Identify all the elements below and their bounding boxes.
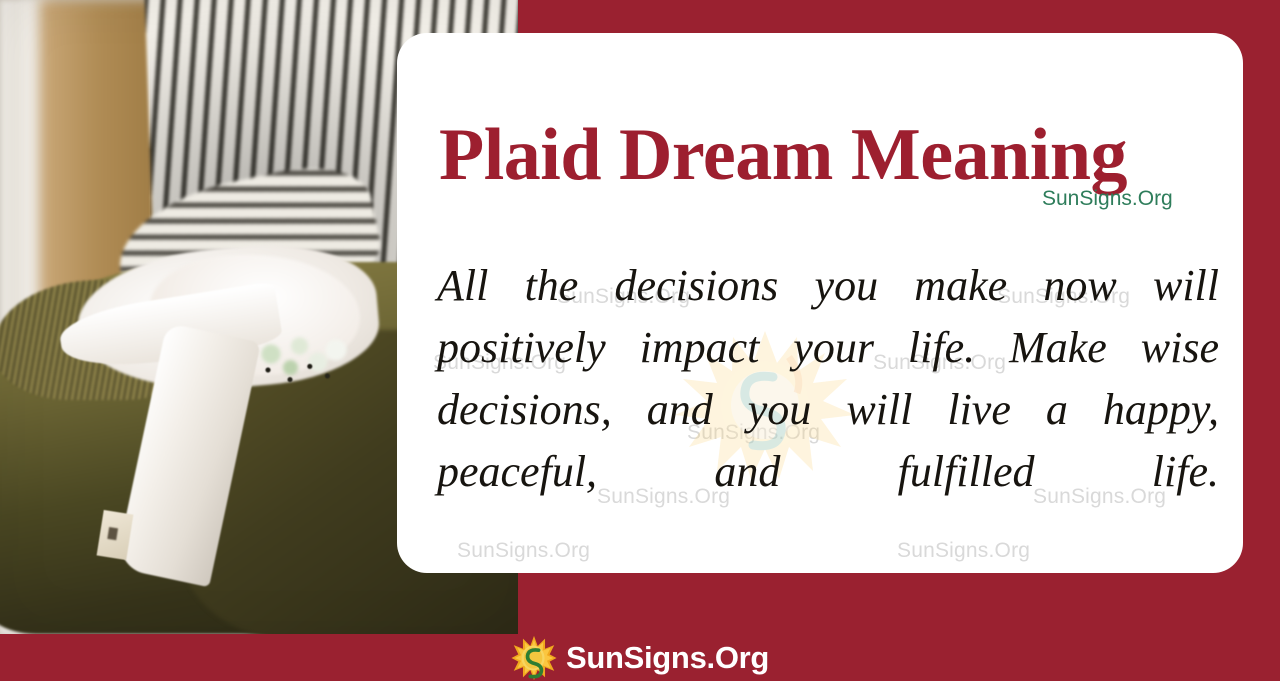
sun-logo-icon <box>511 635 557 681</box>
body-text: All the decisions you make now will posi… <box>437 255 1219 565</box>
title-watermark: SunSigns.Org <box>1042 187 1173 211</box>
poster-canvas: SunSigns.OrgSunSigns.OrgSunSigns.OrgSunS… <box>0 0 1280 681</box>
page-title: Plaid Dream Meaning <box>439 115 1229 195</box>
content-card: SunSigns.OrgSunSigns.OrgSunSigns.OrgSunS… <box>397 33 1243 573</box>
footer-brand-bar: SunSigns.Org <box>0 634 1280 681</box>
footer-brand-text: SunSigns.Org <box>566 640 769 676</box>
